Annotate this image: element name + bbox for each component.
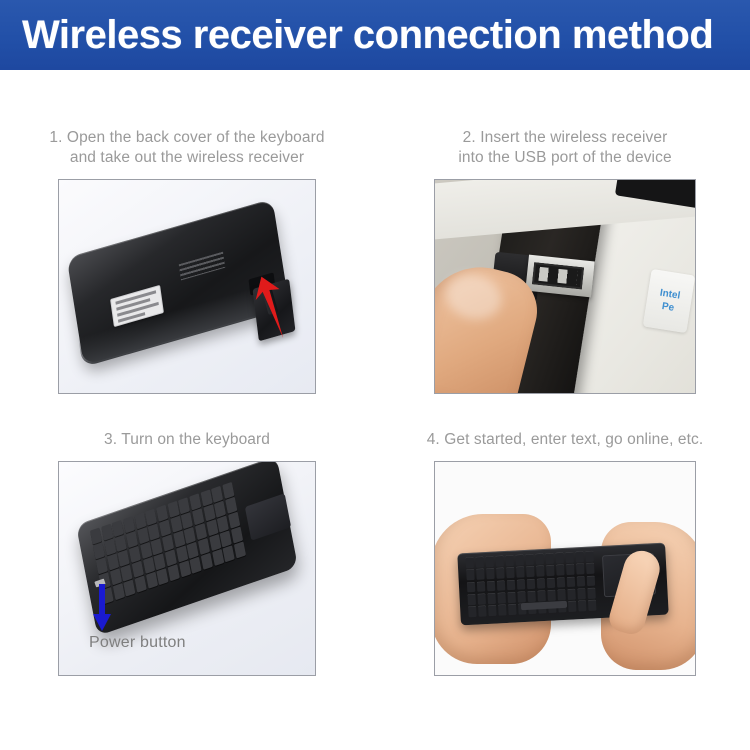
title-banner: Wireless receiver connection method: [0, 0, 750, 70]
key: [547, 590, 556, 601]
key: [466, 569, 475, 580]
key: [107, 554, 119, 571]
key: [526, 566, 535, 577]
key: [507, 592, 516, 603]
key: [134, 512, 146, 529]
step-3-caption-line-1: 3. Turn on the keyboard: [22, 430, 352, 449]
key: [488, 605, 497, 616]
key: [203, 504, 215, 521]
key: [143, 557, 155, 574]
key: [507, 579, 516, 590]
key: [476, 569, 485, 580]
key: [118, 550, 130, 567]
key: [148, 523, 160, 540]
key: [126, 531, 138, 548]
key: [537, 590, 546, 601]
power-button-label: Power button: [89, 634, 186, 652]
key: [154, 553, 166, 570]
key: [167, 501, 179, 518]
key: [165, 550, 177, 567]
key: [487, 593, 496, 604]
key: [516, 567, 525, 578]
key: [566, 576, 575, 587]
key: [137, 527, 149, 544]
key: [497, 592, 506, 603]
key: [198, 538, 210, 555]
key: [159, 520, 171, 537]
key: [220, 531, 232, 548]
key: [545, 553, 554, 564]
key: [555, 552, 564, 563]
key: [115, 535, 127, 552]
key: [577, 588, 586, 599]
key: [140, 542, 152, 559]
key: [586, 563, 595, 574]
key: [508, 604, 517, 615]
key: [209, 534, 221, 551]
step-4: 4. Get started, enter text, go online, e…: [400, 430, 730, 676]
key: [578, 600, 587, 611]
key: [151, 538, 163, 555]
step-4-caption-line-1: 4. Get started, enter text, go online, e…: [400, 430, 730, 449]
key: [556, 577, 565, 588]
key: [478, 606, 487, 617]
key: [200, 490, 212, 507]
key: [587, 588, 596, 599]
key: [145, 508, 157, 525]
key: [556, 565, 565, 576]
key: [217, 516, 229, 533]
key: [477, 581, 486, 592]
key: [587, 600, 596, 611]
key: [184, 527, 196, 544]
key: [526, 578, 535, 589]
key: [176, 546, 188, 563]
step-4-caption: 4. Get started, enter text, go online, e…: [400, 430, 730, 449]
key: [505, 555, 514, 566]
key: [466, 557, 475, 568]
key: [495, 555, 504, 566]
key: [477, 593, 486, 604]
blue-arrow-icon: [91, 584, 113, 632]
key: [525, 554, 534, 565]
step-1-caption-line-2: and take out the wireless receiver: [22, 148, 352, 167]
key: [189, 493, 201, 510]
key: [90, 527, 102, 544]
key: [206, 519, 218, 536]
key: [586, 575, 595, 586]
key: [96, 557, 108, 574]
key: [575, 551, 584, 562]
steps-grid: 1. Open the back cover of the keyboard a…: [0, 70, 750, 750]
page-title: Wireless receiver connection method: [0, 13, 713, 58]
key: [156, 505, 168, 522]
key: [576, 576, 585, 587]
key: [506, 567, 515, 578]
key: [129, 546, 141, 563]
instruction-page: Wireless receiver connection method 1. O…: [0, 0, 750, 750]
key: [536, 578, 545, 589]
key: [192, 508, 204, 525]
key: [576, 563, 585, 574]
key: [121, 565, 133, 582]
key: [487, 580, 496, 591]
key: [585, 551, 594, 562]
key: [467, 582, 476, 593]
key: [467, 594, 476, 605]
step-2-caption: 2. Insert the wireless receiver into the…: [400, 128, 730, 167]
key: [517, 591, 526, 602]
key: [546, 577, 555, 588]
key: [565, 552, 574, 563]
step-2-caption-line-1: 2. Insert the wireless receiver: [400, 128, 730, 147]
key: [211, 486, 223, 503]
key: [101, 524, 113, 541]
step-1-caption: 1. Open the back cover of the keyboard a…: [22, 128, 352, 167]
key: [162, 535, 174, 552]
key: [112, 520, 124, 537]
key: [567, 589, 576, 600]
usb-connector: [525, 255, 594, 298]
key: [170, 516, 182, 533]
step-3-caption: 3. Turn on the keyboard: [22, 430, 352, 449]
key: [93, 542, 105, 559]
step-2-caption-line-2: into the USB port of the device: [400, 148, 730, 167]
step-3-photo: Power button: [58, 461, 316, 676]
key: [187, 542, 199, 559]
step-1-photo: [58, 179, 316, 394]
key: [468, 606, 477, 617]
intel-sticker-line-2: Pe: [661, 300, 675, 315]
key: [486, 568, 495, 579]
key: [527, 591, 536, 602]
key: [535, 553, 544, 564]
key: [181, 512, 193, 529]
key: [568, 601, 577, 612]
key: [110, 569, 122, 586]
key: [195, 523, 207, 540]
step-2-photo: Intel Pe: [434, 179, 696, 394]
key: [566, 564, 575, 575]
key: [178, 497, 190, 514]
key: [517, 579, 526, 590]
title-banner-inner: Wireless receiver connection method: [0, 0, 750, 70]
key: [104, 539, 116, 556]
key: [498, 605, 507, 616]
key: [536, 566, 545, 577]
key: [173, 531, 185, 548]
step-1: 1. Open the back cover of the keyboard a…: [22, 128, 352, 394]
key: [557, 589, 566, 600]
key: [132, 561, 144, 578]
key: [123, 516, 135, 533]
key: [497, 580, 506, 591]
step-1-caption-line-1: 1. Open the back cover of the keyboard: [22, 128, 352, 147]
key: [485, 556, 494, 567]
step-4-photo: [434, 461, 696, 676]
key: [546, 565, 555, 576]
key: [496, 568, 505, 579]
step-3: 3. Turn on the keyboard: [22, 430, 352, 676]
key: [214, 501, 226, 518]
key: [475, 556, 484, 567]
step-2: 2. Insert the wireless receiver into the…: [400, 128, 730, 394]
key: [515, 554, 524, 565]
intel-sticker: Intel Pe: [643, 269, 696, 333]
